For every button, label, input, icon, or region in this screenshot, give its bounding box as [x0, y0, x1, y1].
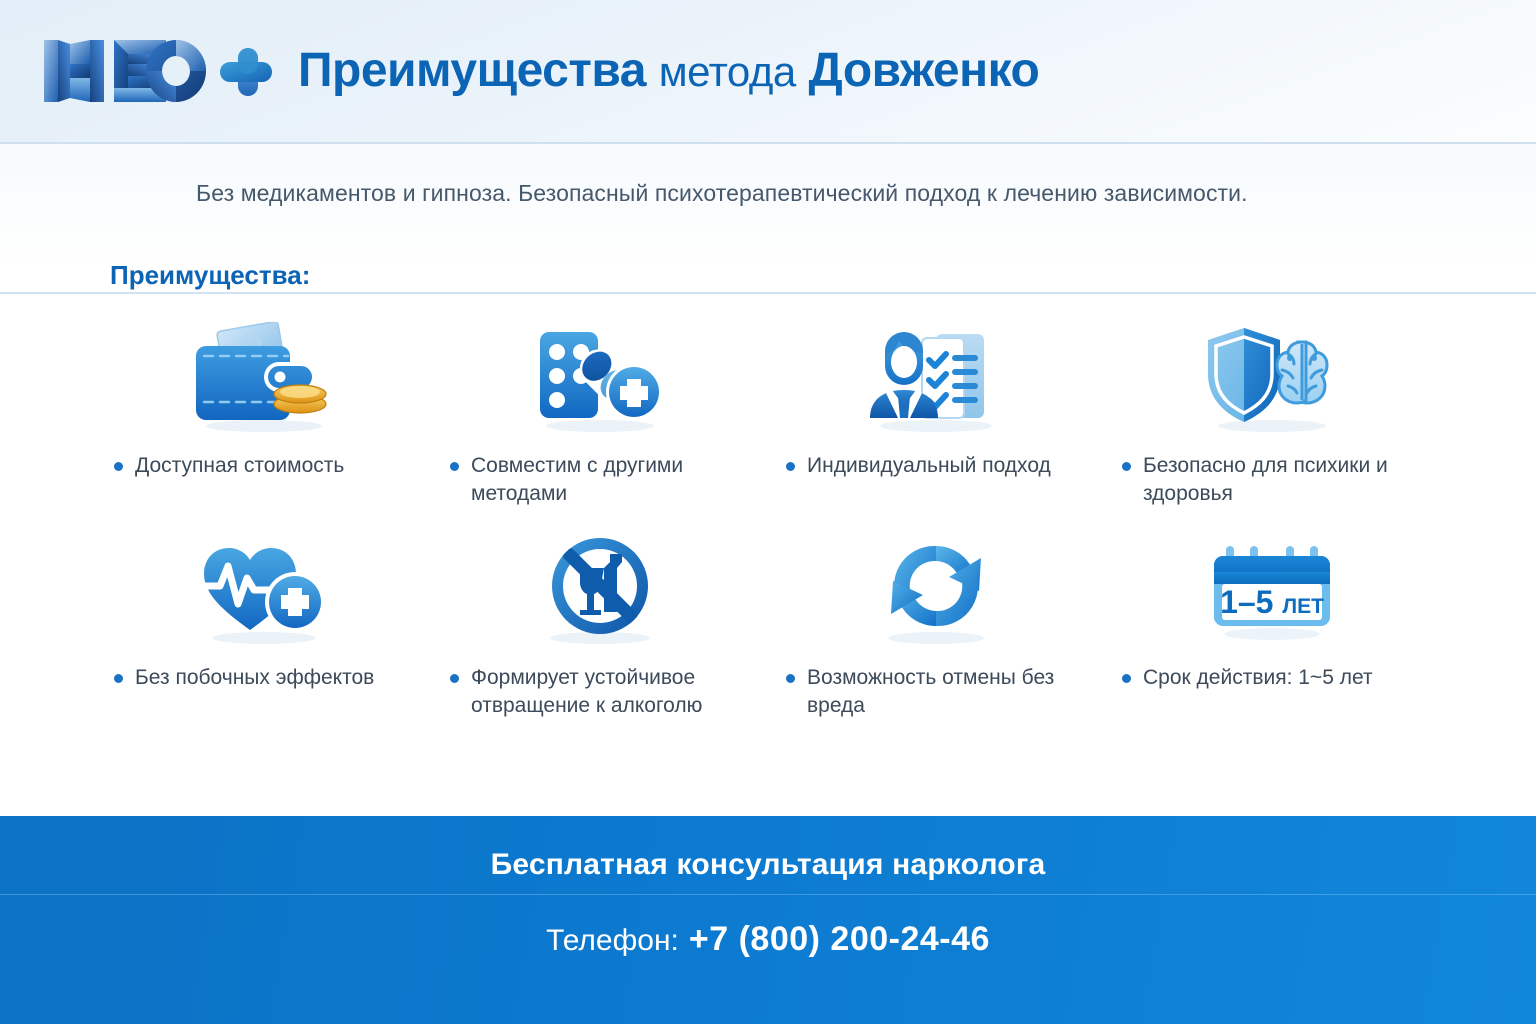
footer-heading: Бесплатная консультация нарколога [0, 848, 1536, 882]
benefit-label-row: Срок действия: 1~5 лет [1122, 664, 1422, 692]
phone-number[interactable]: +7 (800) 200-24-46 [689, 920, 990, 958]
title-part-2: метода [659, 48, 796, 95]
bullet-icon [114, 462, 123, 471]
bullet-icon [786, 462, 795, 471]
benefit-label-row: Формирует устойчивое отвращение к алкого… [450, 664, 750, 719]
benefit-label-row: Безопасно для психики и здоровья [1122, 452, 1422, 507]
bullet-icon [1122, 674, 1131, 683]
footer-divider [0, 894, 1536, 895]
bullet-icon [114, 674, 123, 683]
section-heading: Преимущества: [110, 260, 310, 291]
benefit-item: Индивидуальный подход [768, 310, 1104, 522]
bullet-icon [786, 674, 795, 683]
benefit-label: Без побочных эффектов [135, 664, 374, 692]
benefit-label-row: Индивидуальный подход [786, 452, 1086, 480]
title-part-3: Довженко [809, 44, 1040, 97]
benefit-label: Формирует устойчивое отвращение к алкого… [471, 664, 750, 719]
benefit-label: Совместим с другими методами [471, 452, 750, 507]
subtitle-text: Без медикаментов и гипноза. Безопасный п… [196, 180, 1248, 207]
phone-label: Телефон: [546, 924, 679, 957]
benefit-label: Доступная стоимость [135, 452, 344, 480]
neo-plus-logo-icon [40, 34, 272, 108]
heart-pulse-plus-icon [180, 522, 348, 646]
benefits-grid: Доступная стоимость [96, 310, 1440, 734]
page-title: Преимущества метода Довженко [298, 47, 1039, 95]
header-inner: Преимущества метода Довженко [40, 0, 1039, 142]
footer-phone-row: Телефон:+7 (800) 200-24-46 [0, 920, 1536, 959]
benefit-label-row: Возможность отмены без вреда [786, 664, 1086, 719]
benefit-item: Безопасно для психики и здоровья [1104, 310, 1440, 522]
shield-brain-icon [1188, 310, 1356, 434]
pill-blister-capsule-plus-icon [516, 310, 684, 434]
benefit-label: Возможность отмены без вреда [807, 664, 1086, 719]
benefit-label-row: Без побочных эффектов [114, 664, 414, 692]
benefit-item: Без побочных эффектов [96, 522, 432, 734]
benefit-label-row: Доступная стоимость [114, 452, 414, 480]
title-part-1: Преимущества [298, 44, 646, 97]
benefit-item: 1–5 ЛЕТ Срок действия: 1~5 лет [1104, 522, 1440, 734]
benefit-item: Доступная стоимость [96, 310, 432, 522]
bullet-icon [1122, 462, 1131, 471]
footer-cta-band: Бесплатная консультация нарколога Телефо… [0, 816, 1536, 1024]
infographic-page: Преимущества метода Довженко Без медикам… [0, 0, 1536, 1024]
no-alcohol-icon [516, 522, 684, 646]
benefit-label: Срок действия: 1~5 лет [1143, 664, 1373, 692]
benefit-label-row: Совместим с другими методами [450, 452, 750, 507]
header-band: Преимущества метода Довженко [0, 0, 1536, 144]
bullet-icon [450, 462, 459, 471]
benefit-item: Возможность отмены без вреда [768, 522, 1104, 734]
refresh-arrows-icon [852, 522, 1020, 646]
benefit-label: Индивидуальный подход [807, 452, 1051, 480]
benefit-item: Формирует устойчивое отвращение к алкого… [432, 522, 768, 734]
calendar-icon: 1–5 ЛЕТ [1188, 522, 1356, 646]
wallet-coins-icon [180, 310, 348, 434]
benefit-item: Совместим с другими методами [432, 310, 768, 522]
bullet-icon [450, 674, 459, 683]
doctor-checklist-icon [852, 310, 1020, 434]
benefit-label: Безопасно для психики и здоровья [1143, 452, 1422, 507]
